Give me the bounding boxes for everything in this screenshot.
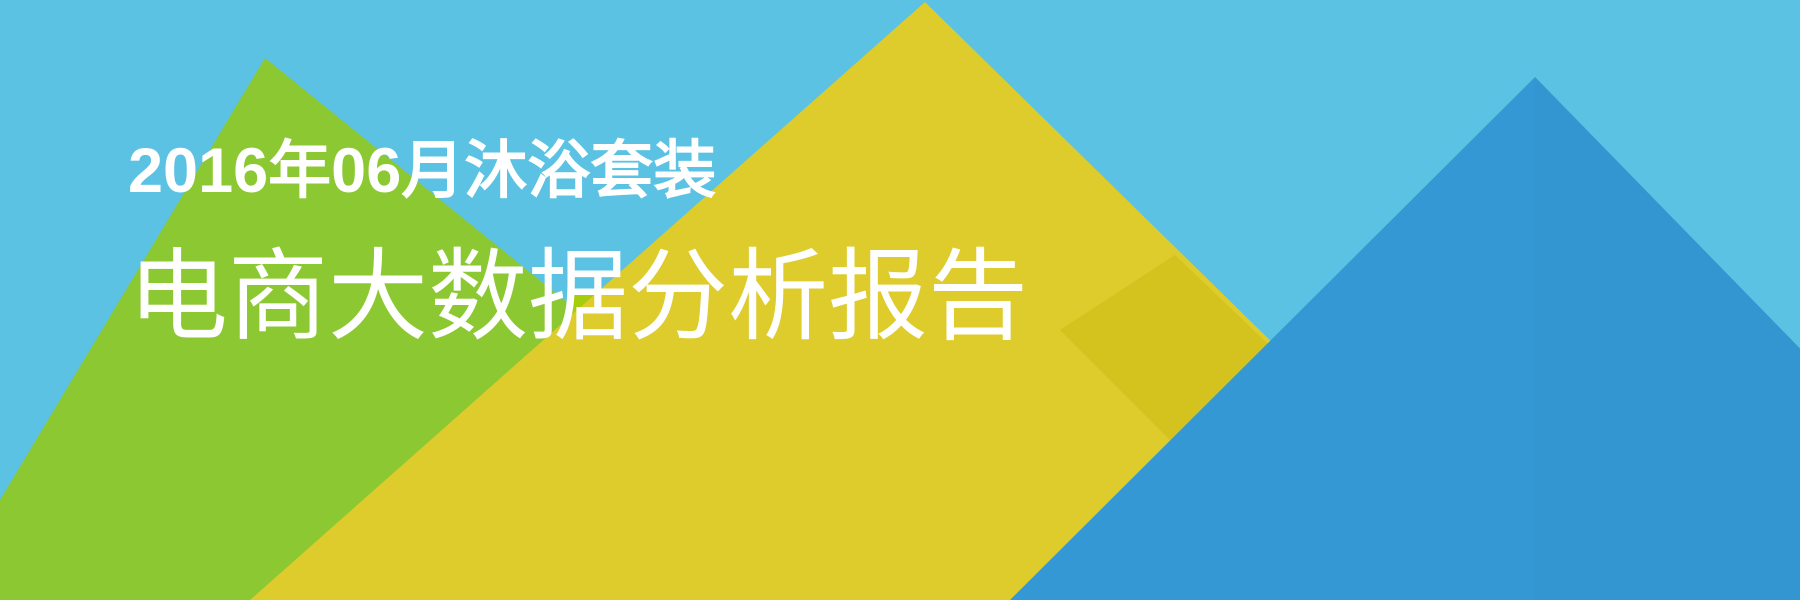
background-graphic: [0, 0, 1800, 600]
report-cover-banner: 2016年06月沐浴套装 电商大数据分析报告: [0, 0, 1800, 600]
